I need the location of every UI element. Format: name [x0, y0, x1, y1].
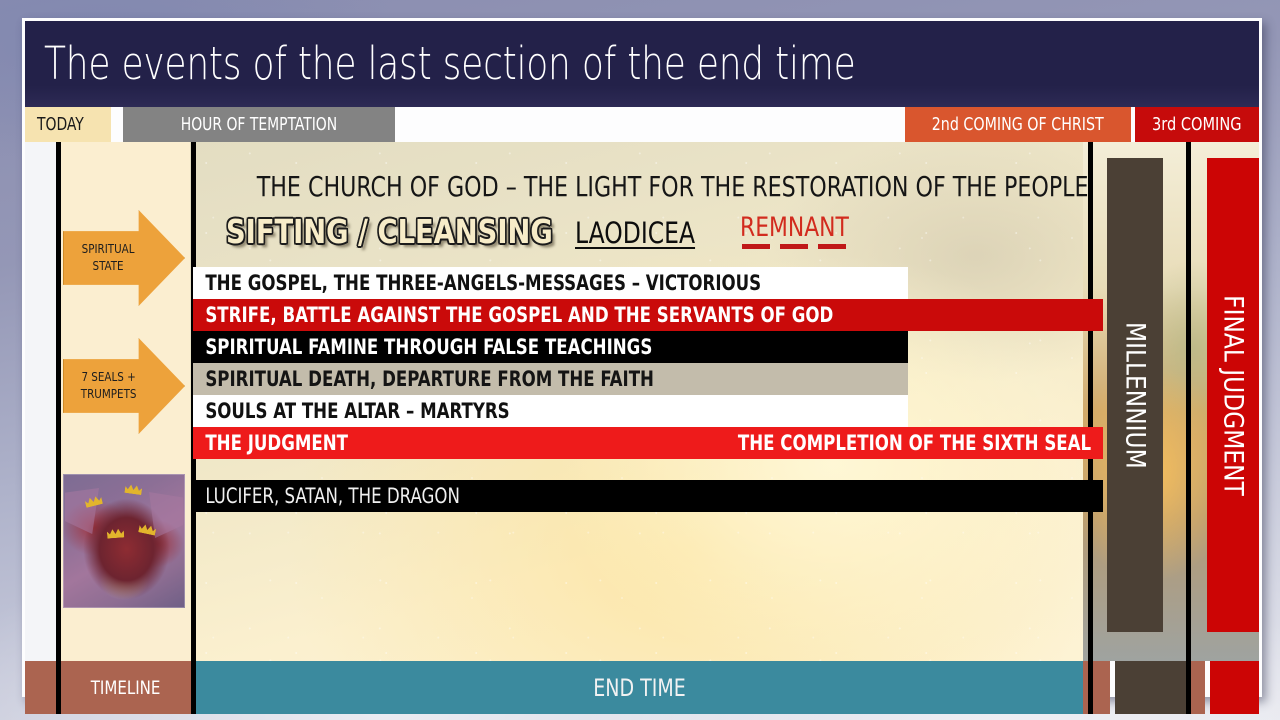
row-spiritual-death: SPIRITUAL DEATH, DEPARTURE FROM THE FAIT…	[193, 363, 908, 395]
slide-title: The events of the last section of the en…	[44, 37, 856, 90]
timeline-tag-band: TODAY HOUR OF TEMPTATION 2nd COMING OF C…	[25, 107, 1259, 143]
timeline-segment-end-time: END TIME	[196, 661, 1083, 714]
timeline-divider-1	[56, 661, 61, 714]
chart-body: THE CHURCH OF GOD – THE LIGHT FOR THE RE…	[25, 142, 1259, 661]
timeline-label: TIMELINE	[91, 677, 161, 699]
panel-headline-text: THE CHURCH OF GOD – THE LIGHT FOR THE RE…	[257, 170, 1089, 203]
timeline-divider-4	[1186, 661, 1191, 714]
arrow-seven-seals-text: 7 SEALS + TRUMPETS	[81, 369, 168, 403]
sifting-cleansing-label: SIFTING / CLEANSING	[226, 212, 553, 251]
tag-today[interactable]: TODAY	[25, 107, 111, 142]
remnant-dashed-underline	[742, 244, 848, 249]
tag-hour-of-temptation[interactable]: HOUR OF TEMPTATION	[123, 107, 395, 142]
row-spiritual-death-label: SPIRITUAL DEATH, DEPARTURE FROM THE FAIT…	[193, 367, 654, 391]
tag-third-coming-label: 3rd COMING	[1152, 114, 1242, 135]
tag-third-coming[interactable]: 3rd COMING	[1135, 107, 1259, 142]
column-final-judgment-label: FINAL JUDGMENT	[1218, 295, 1249, 496]
timeline-segment-final-judgment	[1210, 661, 1259, 714]
timeline-divider-3	[1088, 661, 1093, 714]
arrow-seven-seals-line2: TRUMPETS	[81, 386, 137, 401]
divider-line-third-coming	[1186, 142, 1191, 661]
divider-line-second-coming	[1088, 142, 1093, 661]
row-lucifer-label: LUCIFER, SATAN, THE DRAGON	[193, 484, 460, 508]
tag-today-label: TODAY	[37, 114, 84, 135]
arrow-seven-seals-line1: 7 SEALS +	[81, 369, 135, 384]
row-lucifer-satan-dragon: LUCIFER, SATAN, THE DRAGON	[193, 480, 1103, 512]
remnant-label: REMNANT	[740, 212, 849, 243]
dragon-crown-icon	[124, 483, 142, 495]
timeline-bar: TIMELINE END TIME	[25, 661, 1259, 714]
arrow-spiritual-state-line2: STATE	[93, 258, 124, 273]
arrow-spiritual-state-text: SPIRITUAL STATE	[82, 241, 166, 275]
laodicea-label: LAODICEA	[575, 216, 695, 250]
row-gospel-label: THE GOSPEL, THE THREE-ANGELS-MESSAGES – …	[193, 271, 761, 295]
timeline-segment-millennium	[1115, 661, 1186, 714]
remnant-group: REMNANT	[740, 212, 861, 243]
column-millennium: MILLENNIUM	[1107, 158, 1163, 632]
column-final-judgment: FINAL JUDGMENT	[1207, 158, 1259, 632]
slide-title-bar: The events of the last section of the en…	[25, 21, 1259, 107]
row-spiritual-famine: SPIRITUAL FAMINE THROUGH FALSE TEACHINGS	[193, 331, 908, 363]
row-strife: STRIFE, BATTLE AGAINST THE GOSPEL AND TH…	[193, 299, 1103, 331]
dragon-wing-left	[65, 488, 99, 534]
timeline-segment-gap-2	[1191, 661, 1205, 714]
tag-second-coming[interactable]: 2nd COMING OF CHRIST	[905, 107, 1131, 142]
row-souls-at-the-altar-label: SOULS AT THE ALTAR – MARTYRS	[193, 399, 510, 423]
presentation-slide: The events of the last section of the en…	[22, 18, 1262, 697]
row-strife-label: STRIFE, BATTLE AGAINST THE GOSPEL AND TH…	[193, 303, 833, 327]
dragon-crown-icon	[107, 527, 125, 538]
tag-hour-label: HOUR OF TEMPTATION	[181, 114, 337, 135]
row-spiritual-famine-label: SPIRITUAL FAMINE THROUGH FALSE TEACHINGS	[193, 335, 652, 359]
panel-headline: THE CHURCH OF GOD – THE LIGHT FOR THE RE…	[200, 170, 1080, 203]
tag-second-coming-label: 2nd COMING OF CHRIST	[932, 114, 1104, 135]
dragon-image	[63, 474, 185, 608]
arrow-spiritual-state-line1: SPIRITUAL	[82, 241, 135, 256]
row-the-judgment: THE JUDGMENT THE COMPLETION OF THE SIXTH…	[193, 427, 1103, 459]
row-souls-at-the-altar: SOULS AT THE ALTAR – MARTYRS	[193, 395, 908, 427]
timeline-end-time-label: END TIME	[593, 674, 685, 702]
column-millennium-label: MILLENNIUM	[1120, 322, 1151, 469]
timeline-segment-pre	[25, 661, 56, 714]
timeline-divider-2	[191, 661, 196, 714]
row-the-judgment-label: THE JUDGMENT	[193, 431, 348, 455]
timeline-label-box: TIMELINE	[61, 661, 191, 714]
row-gospel: THE GOSPEL, THE THREE-ANGELS-MESSAGES – …	[193, 267, 908, 299]
divider-line-today	[56, 142, 61, 661]
sub-headline-row: SIFTING / CLEANSING LAODICEA REMNANT	[190, 210, 1083, 254]
row-sixth-seal-label: THE COMPLETION OF THE SIXTH SEAL	[737, 431, 1103, 455]
